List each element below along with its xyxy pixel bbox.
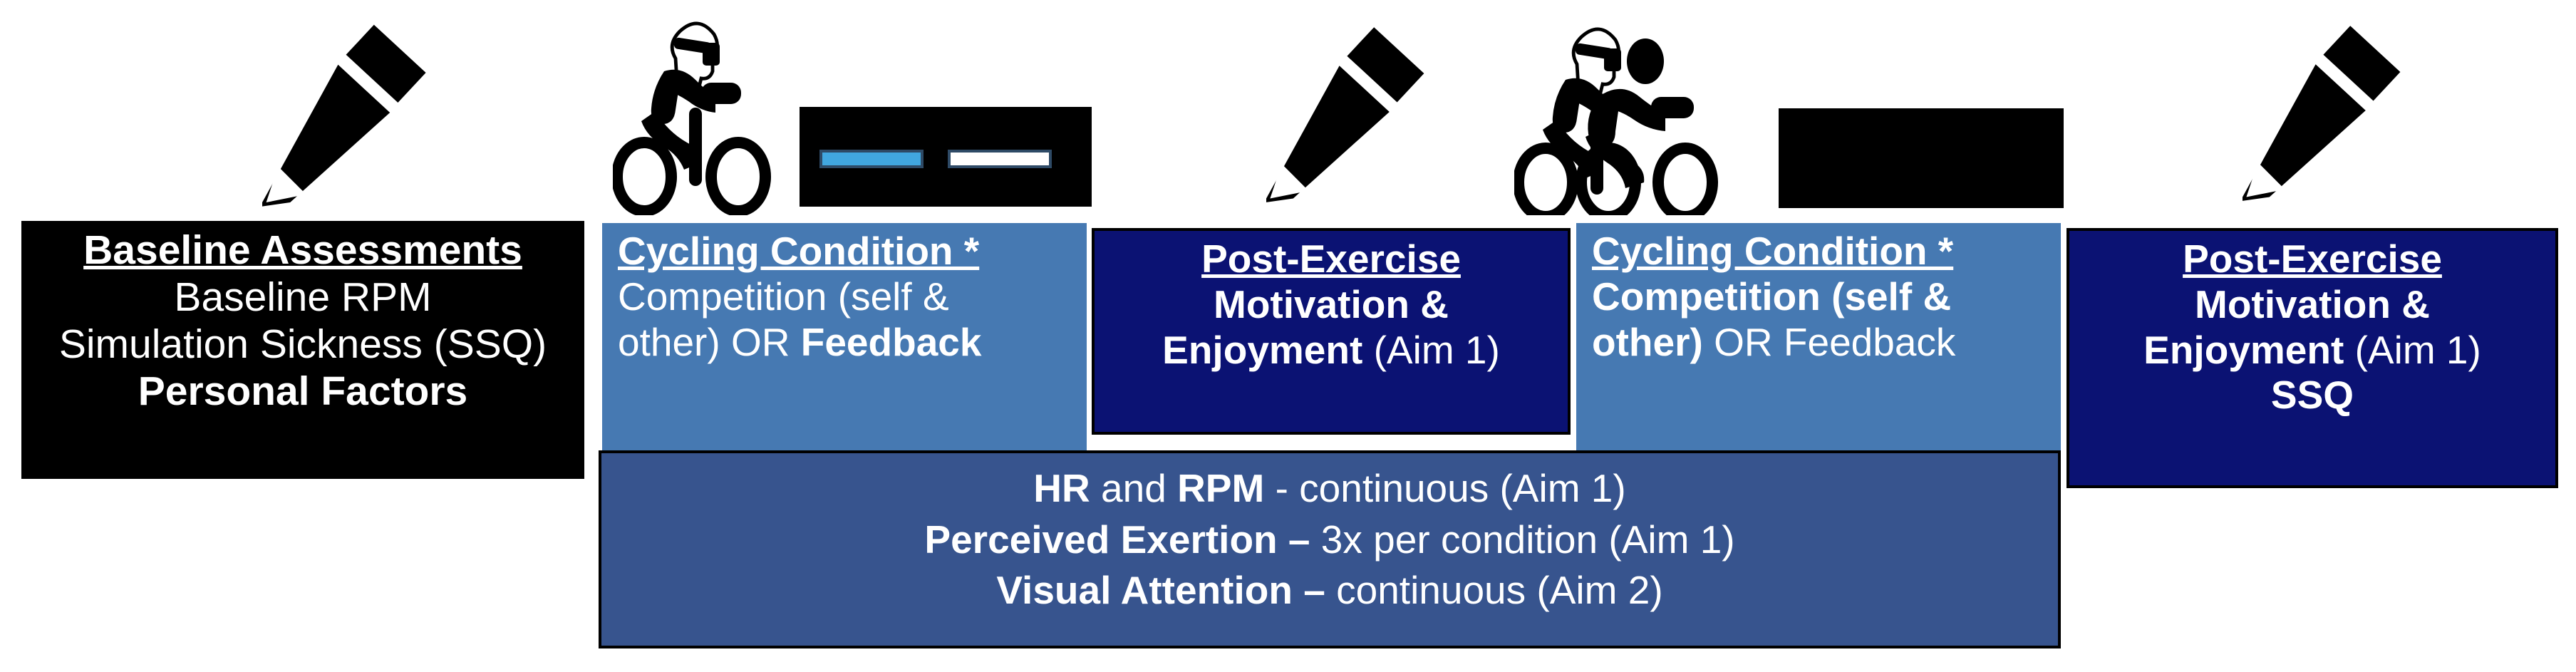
baseline-heading: Baseline Assessments	[29, 227, 577, 274]
measure-row-2-bold: Perceived Exertion –	[924, 517, 1310, 562]
post1-heading: Post-Exercise	[1102, 237, 1561, 282]
figure-canvas: Baseline Assessments Baseline RPM Simula…	[0, 0, 2576, 672]
pencil-icon-post-exercise-2	[2223, 7, 2416, 217]
measure-row-hr-rpm: HR and RPM - continuous (Aim 1)	[601, 463, 2058, 515]
post-exercise-box-2: Post-Exercise Motivation & Enjoyment (Ai…	[2067, 228, 2558, 488]
pencil-icon-post-exercise-1	[1247, 9, 1439, 219]
cycling1-line-1: Competition (self &	[618, 274, 1080, 320]
cycling2-line-2: other) OR Feedback	[1592, 320, 2054, 366]
post1-line-2-suffix: (Aim 1)	[1374, 328, 1500, 372]
post2-line-1: Motivation &	[2076, 282, 2548, 328]
baseline-line-3: Personal Factors	[29, 368, 577, 415]
continuous-measures-band: HR and RPM - continuous (Aim 1) Perceive…	[599, 450, 2061, 648]
post2-line-2: Enjoyment (Aim 1)	[2076, 328, 2548, 373]
cycling1-line-2-prefix: other) OR	[618, 320, 801, 364]
vr-screen-bars-icon	[800, 107, 1092, 210]
baseline-line-2: Simulation Sickness (SSQ)	[29, 321, 577, 368]
measure-row-1-mid: and	[1090, 466, 1177, 510]
measure-row-2-rest: 3x per condition (Aim 1)	[1310, 517, 1735, 562]
cyclists-pair-vr-icon	[1514, 9, 1749, 219]
measure-row-1-rest: - continuous (Aim 1)	[1264, 466, 1625, 510]
cyclist-vr-icon	[613, 9, 798, 219]
measure-row-1-bold2: RPM	[1177, 466, 1264, 510]
baseline-assessments-box: Baseline Assessments Baseline RPM Simula…	[21, 221, 584, 479]
cycling1-line-2-bold: Feedback	[801, 320, 982, 364]
cycling-condition-box-2: Cycling Condition * Competition (self & …	[1576, 223, 2061, 451]
cycling1-line-2: other) OR Feedback	[618, 320, 1080, 366]
cycling1-heading: Cycling Condition *	[618, 229, 1080, 274]
measure-row-3-bold: Visual Attention –	[996, 568, 1325, 612]
cycling2-line-2-bold: other)	[1592, 320, 1714, 364]
pencil-icon-baseline	[242, 6, 442, 223]
post2-line-2-bold: Enjoyment	[2143, 328, 2354, 372]
measure-row-perceived-exertion: Perceived Exertion – 3x per condition (A…	[601, 515, 2058, 566]
post2-line-2-suffix: (Aim 1)	[2355, 328, 2481, 372]
cycling2-heading: Cycling Condition *	[1592, 229, 2054, 274]
post1-line-2-bold: Enjoyment	[1162, 328, 1373, 372]
cycling2-line-1: Competition (self &	[1592, 274, 2054, 320]
post2-heading: Post-Exercise	[2076, 237, 2548, 282]
post1-line-1: Motivation &	[1102, 282, 1561, 328]
baseline-line-1: Baseline RPM	[29, 274, 577, 321]
measure-row-1-bold: HR	[1033, 466, 1090, 510]
vr-screen-blank-icon	[1779, 108, 2064, 212]
measure-row-visual-attention: Visual Attention – continuous (Aim 2)	[601, 565, 2058, 616]
post1-line-2: Enjoyment (Aim 1)	[1102, 328, 1561, 373]
cycling-condition-box-1: Cycling Condition * Competition (self & …	[602, 223, 1087, 451]
post-exercise-box-1: Post-Exercise Motivation & Enjoyment (Ai…	[1092, 228, 1571, 435]
measure-row-3-rest: continuous (Aim 2)	[1325, 568, 1663, 612]
post2-line-3: SSQ	[2076, 373, 2548, 418]
icon-row	[0, 0, 2576, 221]
cycling2-line-2-suffix: OR Feedback	[1714, 320, 1955, 364]
